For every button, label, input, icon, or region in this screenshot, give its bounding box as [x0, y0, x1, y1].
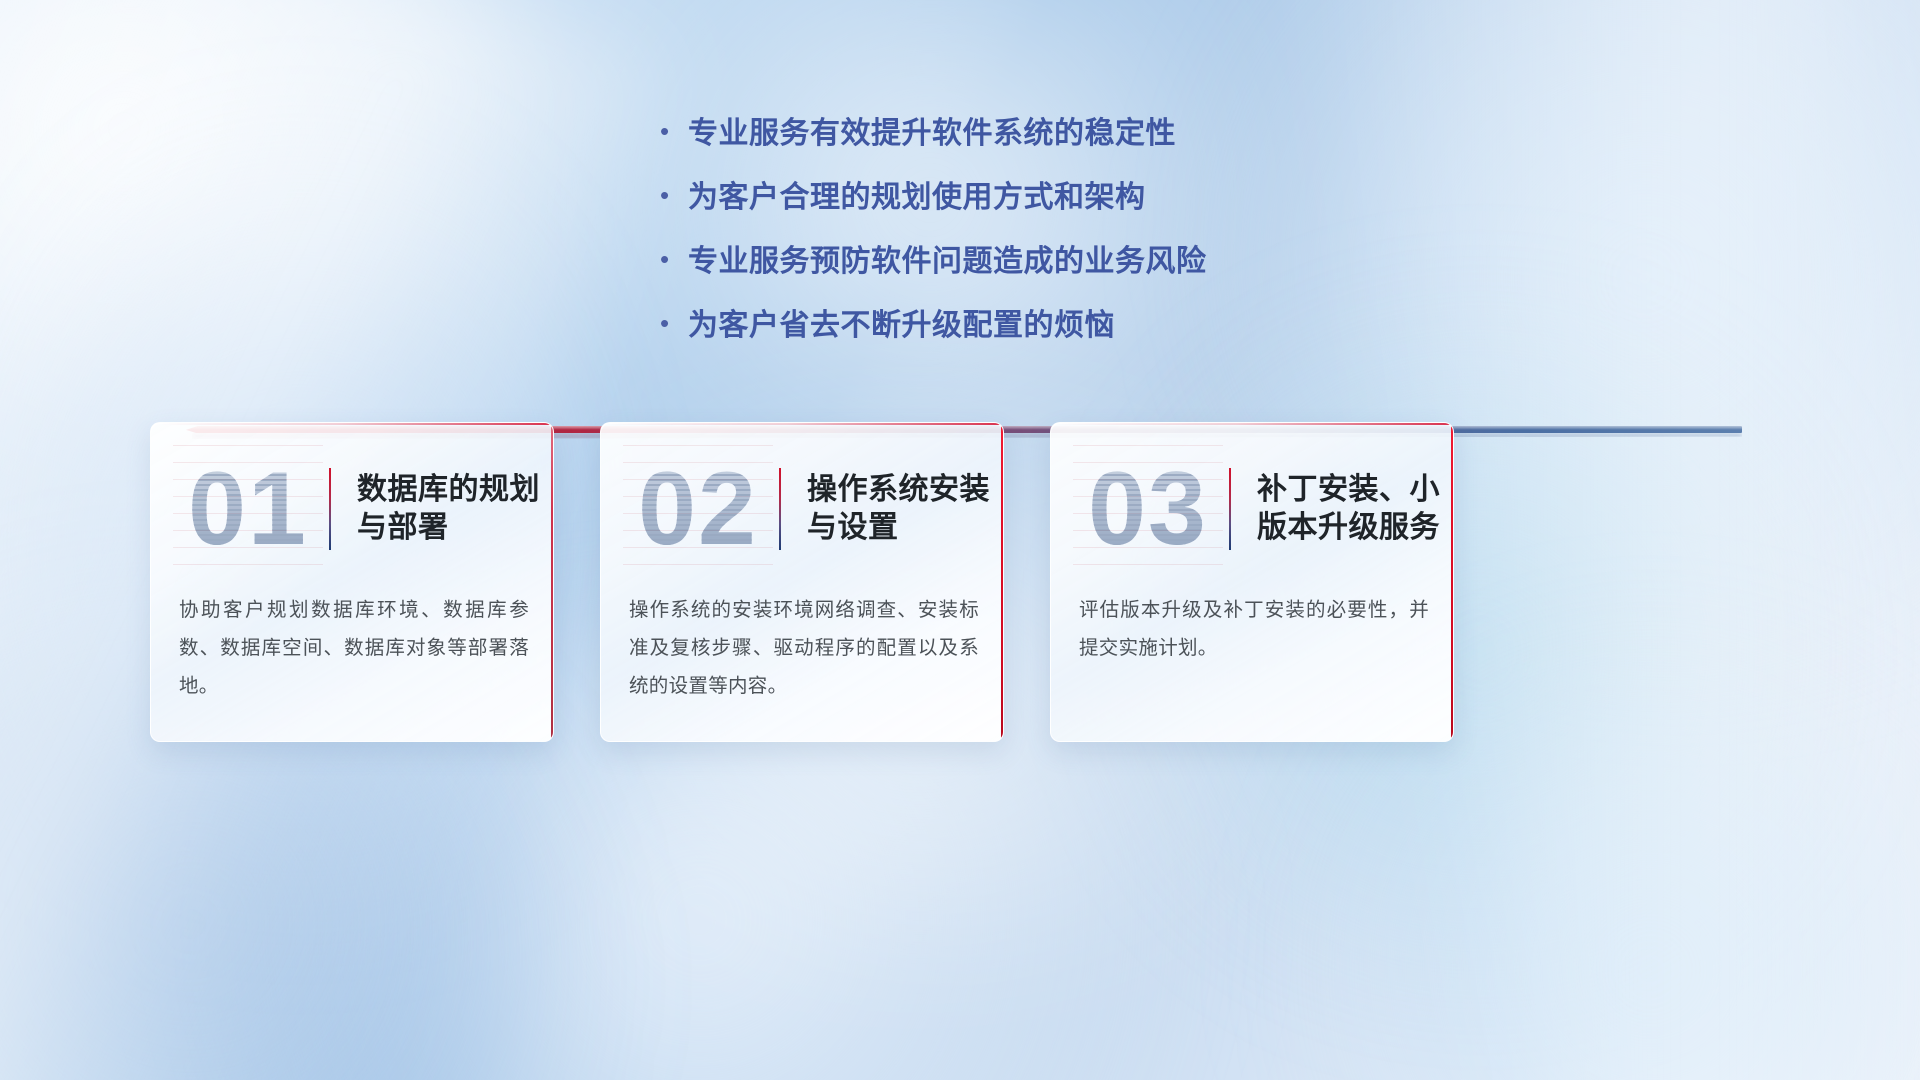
list-item: • 为客户合理的规划使用方式和架构: [660, 172, 1420, 236]
bullet-dot-icon: •: [660, 310, 688, 336]
card-title-divider: [779, 468, 781, 550]
bullet-text: 专业服务有效提升软件系统的稳定性: [688, 108, 1176, 152]
card-title-divider: [1229, 468, 1231, 550]
card-top-accent-line: [611, 423, 1003, 425]
card-number: 03: [1073, 449, 1223, 569]
card-description: 评估版本升级及补丁安装的必要性，并提交实施计划。: [1079, 591, 1429, 667]
card-title-divider: [329, 468, 331, 550]
bullet-dot-icon: •: [660, 182, 688, 208]
card-header: 03 补丁安装、小 版本升级服务: [1051, 445, 1453, 573]
service-card-02[interactable]: 02 操作系统安装 与设置 操作系统的安装环境网络调查、安装标准及复核步骤、驱动…: [600, 422, 1004, 742]
slide-content: • 专业服务有效提升软件系统的稳定性 • 为客户合理的规划使用方式和架构 • 专…: [0, 0, 1920, 1080]
benefits-bullet-list: • 专业服务有效提升软件系统的稳定性 • 为客户合理的规划使用方式和架构 • 专…: [660, 108, 1420, 364]
card-description: 操作系统的安装环境网络调查、安装标准及复核步骤、驱动程序的配置以及系统的设置等内…: [629, 591, 979, 705]
card-title: 补丁安装、小 版本升级服务: [1257, 471, 1440, 548]
service-card-01[interactable]: 01 数据库的规划 与部署 协助客户规划数据库环境、数据库参数、数据库空间、数据…: [150, 422, 554, 742]
card-top-accent-line: [1061, 423, 1453, 425]
card-number: 01: [173, 449, 323, 569]
bullet-dot-icon: •: [660, 118, 688, 144]
bullet-text: 为客户合理的规划使用方式和架构: [688, 172, 1146, 216]
card-description: 协助客户规划数据库环境、数据库参数、数据库空间、数据库对象等部署落地。: [179, 591, 529, 705]
card-header: 01 数据库的规划 与部署: [151, 445, 553, 573]
card-number: 02: [623, 449, 773, 569]
service-card-group: 01 数据库的规划 与部署 协助客户规划数据库环境、数据库参数、数据库空间、数据…: [150, 422, 1454, 742]
card-header: 02 操作系统安装 与设置: [601, 445, 1003, 573]
list-item: • 专业服务有效提升软件系统的稳定性: [660, 108, 1420, 172]
bullet-text: 为客户省去不断升级配置的烦恼: [688, 300, 1115, 344]
bullet-text: 专业服务预防软件问题造成的业务风险: [688, 236, 1207, 280]
card-title: 数据库的规划 与部署: [357, 471, 540, 548]
list-item: • 专业服务预防软件问题造成的业务风险: [660, 236, 1420, 300]
list-item: • 为客户省去不断升级配置的烦恼: [660, 300, 1420, 364]
card-top-accent-line: [161, 423, 553, 425]
card-title: 操作系统安装 与设置: [807, 471, 990, 548]
bullet-dot-icon: •: [660, 246, 688, 272]
service-card-03[interactable]: 03 补丁安装、小 版本升级服务 评估版本升级及补丁安装的必要性，并提交实施计划…: [1050, 422, 1454, 742]
